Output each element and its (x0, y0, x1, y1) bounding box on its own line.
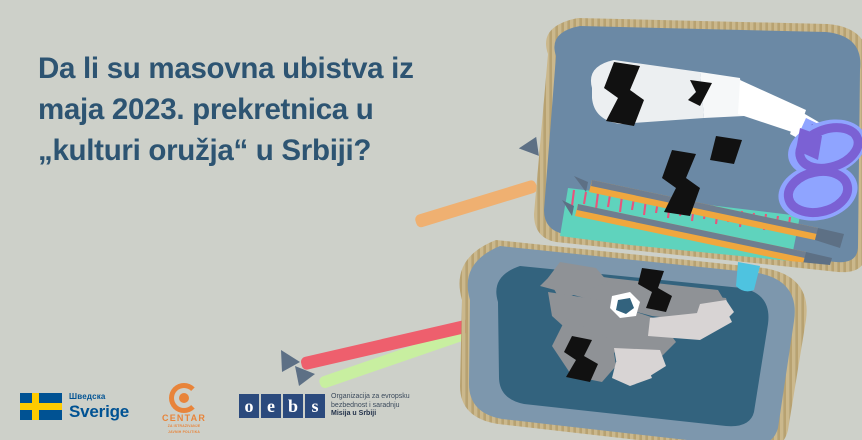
headline-line-2: maja 2023. prekretnica u (38, 89, 538, 130)
sweden-logo-text: Шведска Sverige (69, 393, 129, 420)
centar-logo: CENTAR ZA ISTRAŽIVANJE JAVNIH POLITIKA (155, 383, 213, 434)
logo-bar: Шведска Sverige CENTAR ZA ISTRAŽIVANJE J… (20, 380, 410, 432)
sweden-label-cyrillic: Шведска (69, 393, 129, 401)
oebs-tagline-line-1: Organizacija za evropsku (331, 393, 410, 402)
page-title: Da li su masovna ubistva iz maja 2023. p… (38, 48, 538, 171)
oebs-logo: o e b s Organizacija za evropsku bezbedn… (239, 393, 410, 419)
centar-subtitle-line-1: ZA ISTRAŽIVANJE (155, 424, 213, 429)
centar-c-icon (169, 383, 199, 413)
oebs-letter-b: b (283, 394, 303, 418)
oebs-letter-e: e (261, 394, 281, 418)
oebs-tagline-line-3: Misija u Srbiji (331, 410, 410, 419)
sweden-flag-icon (20, 393, 62, 420)
headline-line-1: Da li su masovna ubistva iz (38, 48, 538, 89)
sweden-logo: Шведска Sverige (20, 393, 129, 420)
oebs-letter-s: s (305, 394, 325, 418)
oebs-tagline-line-2: bezbednost i saradnju (331, 402, 410, 411)
centar-subtitle-line-2: JAVNIH POLITIKA (155, 430, 213, 435)
oebs-letter-o: o (239, 394, 259, 418)
headline-line-3: „kulturi oružja“ u Srbiji? (38, 130, 538, 171)
sweden-label-latin: Sverige (69, 403, 129, 420)
oebs-wordmark: o e b s (239, 394, 325, 418)
oebs-tagline: Organizacija za evropsku bezbednost i sa… (331, 393, 410, 419)
poster-canvas: Da li su masovna ubistva iz maja 2023. p… (0, 0, 862, 440)
centar-title: CENTAR (162, 414, 206, 423)
